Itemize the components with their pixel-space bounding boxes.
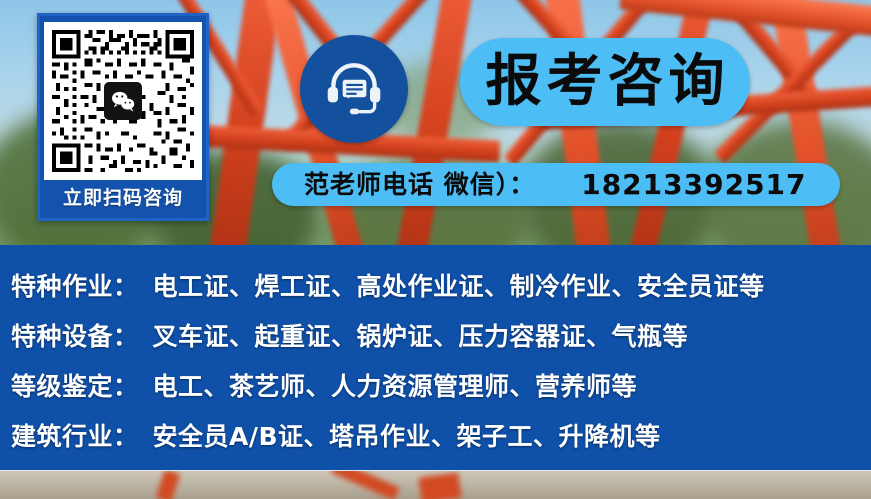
contact-phone-bar[interactable]: 范老师电话 微信）： 18213392517 (272, 163, 840, 206)
qr-card[interactable]: 立即扫码咨询 (37, 13, 209, 221)
consult-title-button[interactable]: 报考咨询 (460, 38, 750, 126)
qr-caption: 立即扫码咨询 (63, 189, 183, 208)
wechat-glyph (108, 86, 138, 116)
service-value: 安全员A/B证、塔吊作业、架子工、升降机等 (153, 417, 661, 453)
service-row-grade-appraisal: 等级鉴定： 电工、茶艺师、人力资源管理师、营养师等 (11, 367, 871, 417)
consult-title-label: 报考咨询 (481, 54, 730, 110)
services-panel: 特种作业： 电工证、焊工证、高处作业证、制冷作业、安全员证等 特种设备： 叉车证… (0, 245, 871, 471)
strip-beam (330, 471, 400, 499)
wechat-icon (104, 82, 142, 120)
service-label: 等级鉴定： (11, 367, 139, 403)
service-value: 电工证、焊工证、高处作业证、制冷作业、安全员证等 (153, 267, 765, 303)
bottom-photo-strip (0, 471, 871, 499)
promo-banner: 立即扫码咨询 报考咨询 范老师电话 微信）： 18213392517 特种作业：… (0, 0, 871, 499)
service-label: 特种设备： (11, 317, 139, 353)
service-row-construction-industry: 建筑行业： 安全员A/B证、塔吊作业、架子工、升降机等 (11, 417, 871, 467)
service-value: 电工、茶艺师、人力资源管理师、营养师等 (153, 367, 638, 403)
service-label: 特种作业： (11, 267, 139, 303)
qr-code[interactable] (44, 22, 202, 180)
service-value: 叉车证、起重证、锅炉证、压力容器证、气瓶等 (153, 317, 689, 353)
service-row-special-operations: 特种作业： 电工证、焊工证、高处作业证、制冷作业、安全员证等 (11, 267, 871, 317)
contact-phone-number[interactable]: 18213392517 (581, 171, 806, 199)
contact-label: 范老师电话 微信）： (304, 172, 535, 197)
service-row-special-equipment: 特种设备： 叉车证、起重证、锅炉证、压力容器证、气瓶等 (11, 317, 871, 367)
strip-beam (156, 471, 180, 499)
strip-beam (418, 472, 461, 499)
headset-chat-icon (300, 35, 408, 143)
service-label: 建筑行业： (11, 417, 139, 453)
headset-glyph (321, 56, 387, 122)
